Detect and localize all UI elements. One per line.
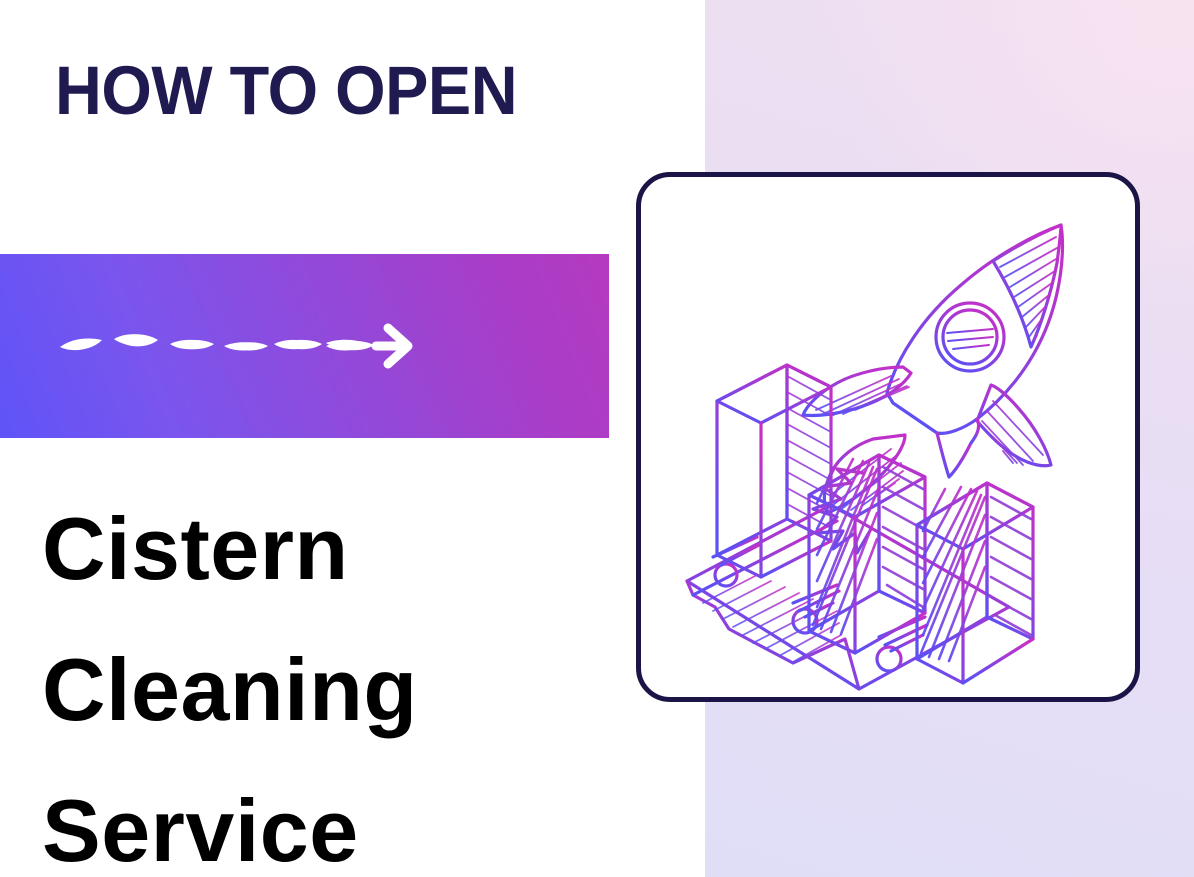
poster-canvas: HOW TO OPEN bbox=[0, 0, 1194, 877]
page-title-line-1: Cistern bbox=[42, 478, 662, 619]
illustration-card bbox=[636, 172, 1140, 702]
page-title-line-3: Service bbox=[42, 760, 662, 877]
page-kicker: HOW TO OPEN bbox=[55, 56, 517, 125]
page-title-line-2: Cleaning bbox=[42, 619, 662, 760]
page-title: Cistern Cleaning Service bbox=[42, 478, 662, 877]
dashed-arrow-right-icon bbox=[58, 318, 418, 374]
rocket-launch-bar-chart-sketch-icon bbox=[641, 177, 1135, 697]
